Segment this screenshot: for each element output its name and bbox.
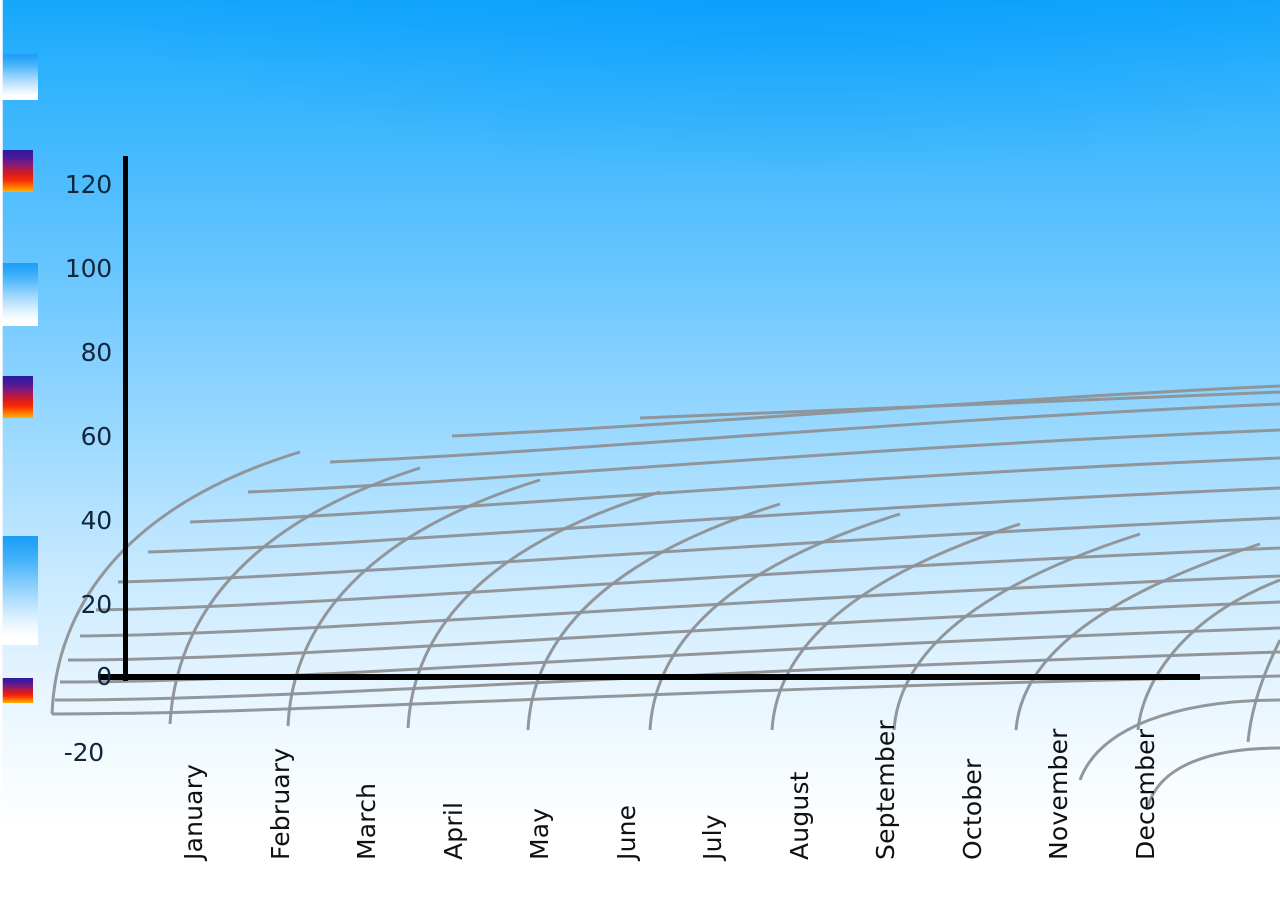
bar-face	[0, 678, 33, 703]
x-label-june: June	[612, 805, 641, 860]
bar-shadow	[0, 326, 34, 376]
x-label-september: September	[871, 720, 900, 860]
bar-face	[0, 263, 38, 326]
x-label-may: May	[525, 808, 554, 860]
y-tick-0: 0	[48, 662, 112, 691]
bar-face	[0, 376, 33, 418]
x-label-november: November	[1044, 728, 1073, 860]
y-axis-line	[123, 156, 128, 681]
bar-face	[0, 536, 38, 645]
bar-face	[0, 54, 38, 100]
y-tick-100: 100	[48, 254, 112, 283]
plot-area: 120 100 80 60 40 20 0 -20 JanuaryFebruar…	[0, 0, 1280, 905]
x-axis-line	[100, 674, 1200, 680]
y-tick-neg20: -20	[40, 738, 104, 767]
x-label-february: February	[266, 748, 295, 860]
bar-shadow	[0, 100, 34, 150]
bar-shadow	[0, 192, 34, 263]
bar-shadow	[0, 0, 34, 54]
bar-face	[0, 150, 33, 192]
x-label-march: March	[352, 783, 381, 860]
x-label-december: December	[1131, 729, 1160, 860]
bar-shadow	[0, 703, 34, 905]
y-tick-40: 40	[48, 506, 112, 535]
y-tick-60: 60	[48, 422, 112, 451]
bar-shadow	[0, 418, 34, 535]
y-tick-120: 120	[48, 170, 112, 199]
x-label-january: January	[179, 764, 208, 860]
y-tick-20: 20	[48, 590, 112, 619]
x-label-october: October	[958, 759, 987, 860]
x-label-april: April	[439, 802, 468, 860]
x-label-july: July	[698, 814, 727, 860]
chart-canvas: 120 100 80 60 40 20 0 -20 JanuaryFebruar…	[0, 0, 1280, 905]
y-tick-80: 80	[48, 338, 112, 367]
bar-shadow	[0, 645, 34, 678]
x-label-august: August	[785, 771, 814, 860]
